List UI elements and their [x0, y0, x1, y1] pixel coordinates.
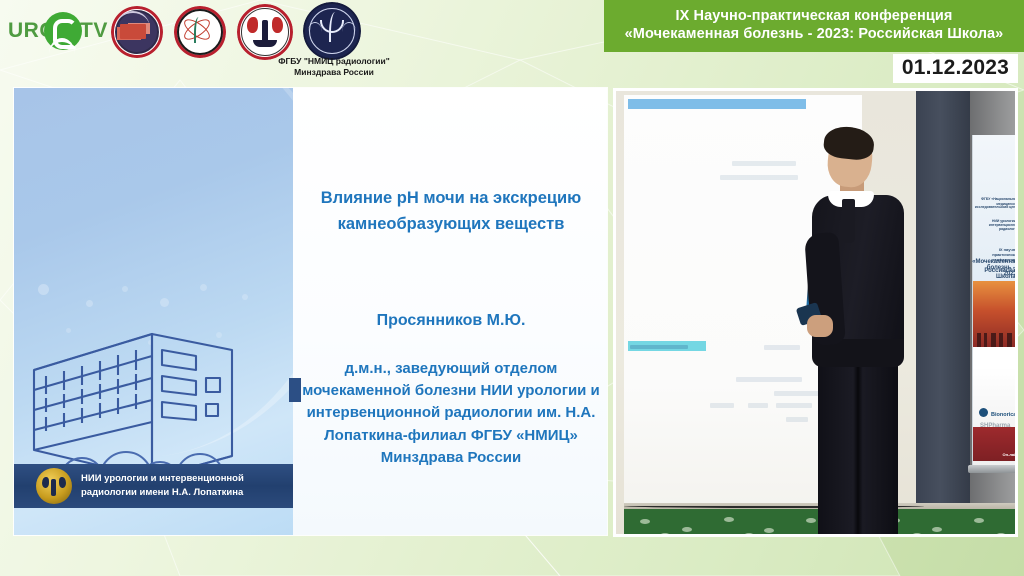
institute-name-line-1: НИИ урологии и интервенционной: [81, 473, 244, 484]
date-badge: 01.12.2023: [893, 54, 1018, 83]
rollup-footer-text: Он-лайн: [1003, 452, 1019, 457]
rollup-org-line-3: НИИ урологии и интервенционной: [973, 219, 1018, 227]
bokeh-dot: [86, 300, 93, 307]
atom-caduceus-emblem: [174, 6, 226, 58]
slide-title: Влияние pH мочи на экскрецию камнеобразу…: [301, 186, 601, 237]
institute-name-bar: НИИ урологии и интервенционной радиологи…: [14, 464, 293, 508]
nmic-caption-line-1: ФГБУ "НМИЦ радиологии": [274, 56, 394, 67]
projected-slide-header-bar: [628, 99, 806, 109]
urotv-logo-text-right: TV: [80, 19, 108, 43]
slide-text-panel: Влияние pH мочи на экскрецию камнеобразу…: [293, 88, 607, 535]
speaker-necktie: [842, 199, 855, 243]
institute-building-emblem: [111, 6, 163, 58]
rollup-conference-line-2: Российская Школа»: [973, 268, 1018, 280]
room-pillar: [916, 91, 970, 509]
bokeh-dot: [122, 286, 128, 292]
slide-artwork-panel: НИИ урологии и интервенционной радиологи…: [14, 88, 293, 535]
kidney-emblem: [237, 4, 293, 60]
speaker-person: [802, 125, 912, 511]
rollup-org-line-2: исследовательский центр: [975, 205, 1018, 209]
slide-author-name: Просянников М.Ю.: [301, 312, 601, 330]
speaker-hand: [807, 315, 833, 337]
sponsor-bionorica-label: Bionorica: [991, 412, 1016, 418]
slide-affiliation: д.м.н., заведующий отделом мочекаменной …: [297, 358, 605, 469]
bokeh-dot: [242, 294, 248, 300]
rollup-cityscape-image: [973, 281, 1018, 347]
nmic-radiology-caption: ФГБУ "НМИЦ радиологии" Минздрава России: [274, 56, 394, 77]
bowl-of-hygieia-emblem: [303, 2, 361, 60]
kidney-gold-emblem: [36, 468, 72, 504]
speaker-legs: [818, 347, 898, 537]
urotv-leaf-icon: [44, 12, 82, 50]
conference-title-line-1: IX Научно-практическая конференция: [676, 8, 953, 26]
institute-name-text: НИИ урологии и интервенционной радиологи…: [81, 472, 244, 501]
urotv-logo[interactable]: URO TV: [8, 10, 108, 52]
sponsor-bionorica-icon: [979, 408, 988, 417]
conference-title-banner: IX Научно-практическая конференция «Моче…: [604, 0, 1024, 52]
bokeh-dot: [200, 284, 207, 291]
nmic-caption-line-2: Минздрава России: [274, 67, 394, 78]
institute-name-line-2: радиологии имени Н.А. Лопаткина: [81, 487, 243, 498]
conference-title-line-2: «Мочекаменная болезнь - 2023: Российская…: [625, 26, 1004, 44]
bokeh-dot: [160, 298, 169, 307]
sponsor-rollup-banner: ФГБУ «Национальный медицинский исследова…: [972, 135, 1018, 467]
rollup-banner-stand: [968, 465, 1018, 473]
header-bar: URO TV ФГБУ "НМИЦ радиологии" Минздрава …: [0, 0, 1024, 88]
presentation-slide[interactable]: НИИ урологии и интервенционной радиологи…: [14, 88, 607, 535]
conference-speaker-video-feed[interactable]: ФГБУ «Национальный медицинский исследова…: [613, 88, 1018, 537]
rollup-org-line-4: радиологии: [999, 227, 1018, 231]
bokeh-dot: [38, 284, 49, 295]
